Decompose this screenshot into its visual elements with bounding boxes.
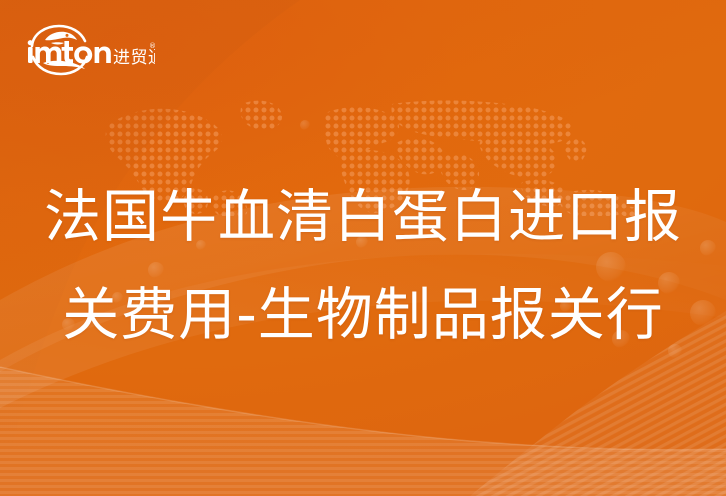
- headline-line-1: 法国牛血清白蛋白进口报: [0, 168, 726, 266]
- headline-line-2: 关费用-生物制品报关行: [0, 266, 726, 364]
- registered-mark: ®: [149, 42, 155, 50]
- brand-logo[interactable]: 进贸通 ®: [21, 22, 155, 78]
- promo-banner: 进贸通 ® 法国牛血清白蛋白进口报 关费用-生物制品报关行: [0, 0, 726, 496]
- logo-chinese-text: 进贸通: [113, 48, 155, 68]
- page-title: 法国牛血清白蛋白进口报 关费用-生物制品报关行: [0, 168, 726, 364]
